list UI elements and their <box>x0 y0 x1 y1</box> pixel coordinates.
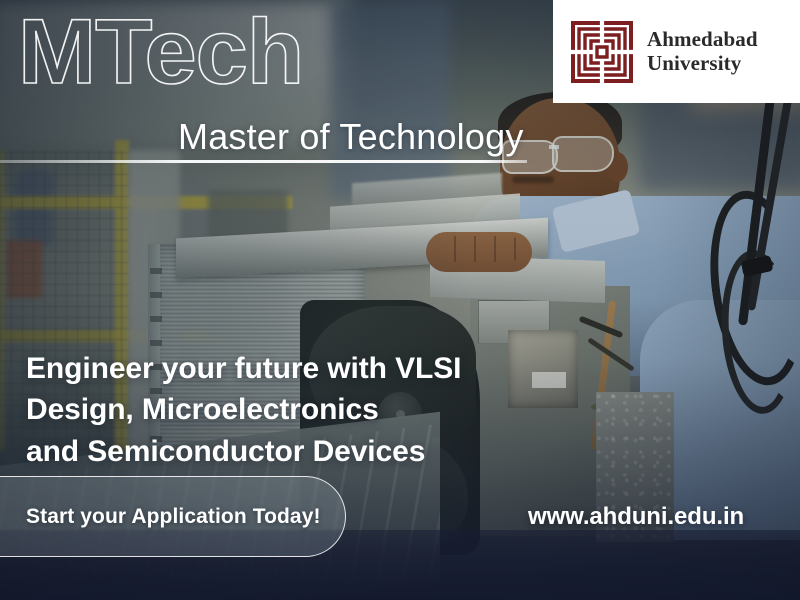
university-name: Ahmedabad University <box>647 28 758 75</box>
university-logo-block[interactable]: Ahmedabad University <box>553 0 800 103</box>
cta-label[interactable]: Start your Application Today! <box>26 505 321 529</box>
concentric-square-labyrinth-icon <box>571 21 633 83</box>
headline-line-3: and Semiconductor Devices <box>26 431 546 472</box>
website-url[interactable]: www.ahduni.edu.in <box>528 503 744 531</box>
headline-line-2: Design, Microelectronics <box>26 389 546 430</box>
mtech-promotional-banner: MTech Master of Technology <box>0 0 800 600</box>
banner-content: MTech Master of Technology <box>0 0 800 600</box>
headline-text: Engineer your future with VLSI Design, M… <box>26 348 546 472</box>
program-abbreviation-title: MTech <box>18 6 303 98</box>
university-name-line1: Ahmedabad <box>647 28 758 52</box>
title-divider <box>0 160 527 163</box>
headline-line-1: Engineer your future with VLSI <box>26 348 546 389</box>
university-name-line2: University <box>647 52 758 76</box>
program-full-name: Master of Technology <box>178 116 524 158</box>
